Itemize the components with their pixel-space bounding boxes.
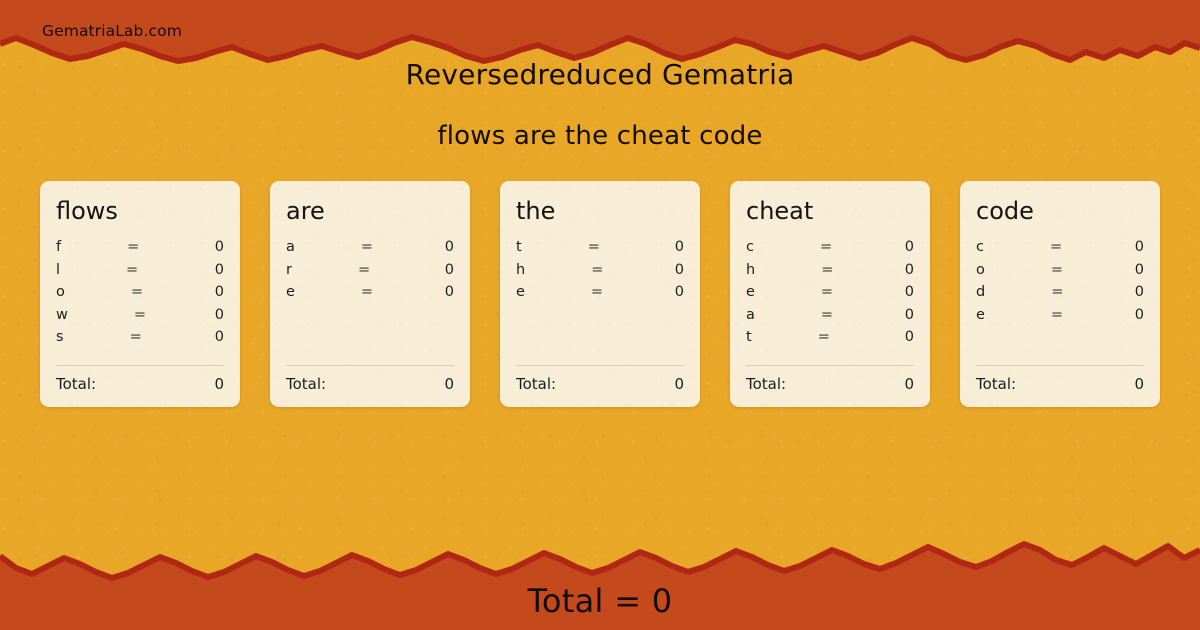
letter-glyph: h: [746, 262, 755, 278]
letter-row: h=0: [516, 262, 684, 285]
letter-value: 0: [905, 284, 914, 300]
letter-glyph: a: [286, 239, 295, 255]
page-title: Reversedreduced Gematria: [0, 58, 1200, 92]
card-divider: [976, 365, 1144, 366]
letter-row: e=0: [286, 284, 454, 307]
card-divider: [746, 365, 914, 366]
letter-value: 0: [1135, 239, 1144, 255]
letter-row: a=0: [286, 239, 454, 262]
letter-glyph: h: [516, 262, 525, 278]
letter-glyph: f: [56, 239, 61, 255]
letter-rows: t=0h=0e=0: [516, 239, 684, 365]
equals-sign: =: [361, 239, 373, 255]
card-word-title: are: [286, 197, 454, 225]
equals-sign: =: [358, 262, 370, 278]
card-total-label: Total:: [746, 375, 786, 393]
letter-value: 0: [445, 284, 454, 300]
letter-row: d=0: [976, 284, 1144, 307]
card-word-title: code: [976, 197, 1144, 225]
letter-glyph: l: [56, 262, 60, 278]
letter-row: o=0: [56, 284, 224, 307]
equals-sign: =: [820, 239, 832, 255]
letter-row: s=0: [56, 329, 224, 352]
letter-value: 0: [215, 284, 224, 300]
word-card: area=0r=0e=0Total:0: [270, 181, 470, 407]
card-total-row: Total:0: [56, 375, 224, 393]
letter-row: e=0: [976, 307, 1144, 330]
letter-value: 0: [215, 239, 224, 255]
card-total-row: Total:0: [286, 375, 454, 393]
letter-value: 0: [675, 284, 684, 300]
letter-value: 0: [675, 262, 684, 278]
letter-row: r=0: [286, 262, 454, 285]
letter-glyph: s: [56, 329, 64, 345]
equals-sign: =: [591, 284, 603, 300]
letter-glyph: o: [976, 262, 985, 278]
card-total-value: 0: [214, 375, 224, 393]
equals-sign: =: [821, 307, 833, 323]
card-word-title: cheat: [746, 197, 914, 225]
equals-sign: =: [588, 239, 600, 255]
word-cards-container: flowsf=0l=0o=0w=0s=0Total:0area=0r=0e=0T…: [40, 181, 1160, 407]
equals-sign: =: [130, 329, 142, 345]
letter-rows: c=0o=0d=0e=0: [976, 239, 1144, 365]
letter-value: 0: [445, 239, 454, 255]
equals-sign: =: [134, 307, 146, 323]
page-subtitle: flows are the cheat code: [0, 120, 1200, 152]
letter-glyph: e: [286, 284, 295, 300]
equals-sign: =: [126, 262, 138, 278]
letter-row: e=0: [746, 284, 914, 307]
letter-row: a=0: [746, 307, 914, 330]
letter-row: w=0: [56, 307, 224, 330]
site-watermark: GematriaLab.com: [42, 22, 182, 40]
letter-row: e=0: [516, 284, 684, 307]
letter-row: c=0: [976, 239, 1144, 262]
card-total-label: Total:: [976, 375, 1016, 393]
letter-row: o=0: [976, 262, 1144, 285]
equals-sign: =: [818, 329, 830, 345]
letter-value: 0: [905, 239, 914, 255]
card-word-title: flows: [56, 197, 224, 225]
equals-sign: =: [361, 284, 373, 300]
letter-row: c=0: [746, 239, 914, 262]
equals-sign: =: [1050, 239, 1062, 255]
equals-sign: =: [821, 262, 833, 278]
grand-total-label: Total = 0: [0, 582, 1200, 620]
letter-value: 0: [905, 307, 914, 323]
equals-sign: =: [591, 262, 603, 278]
card-total-value: 0: [674, 375, 684, 393]
letter-glyph: c: [746, 239, 754, 255]
letter-value: 0: [1135, 284, 1144, 300]
equals-sign: =: [821, 284, 833, 300]
letter-value: 0: [905, 262, 914, 278]
letter-value: 0: [1135, 307, 1144, 323]
equals-sign: =: [1051, 262, 1063, 278]
letter-rows: f=0l=0o=0w=0s=0: [56, 239, 224, 365]
letter-row: l=0: [56, 262, 224, 285]
equals-sign: =: [1051, 284, 1063, 300]
equals-sign: =: [1051, 307, 1063, 323]
card-total-label: Total:: [286, 375, 326, 393]
letter-value: 0: [675, 239, 684, 255]
letter-row: t=0: [746, 329, 914, 352]
letter-glyph: e: [746, 284, 755, 300]
card-divider: [56, 365, 224, 366]
card-total-value: 0: [904, 375, 914, 393]
letter-glyph: r: [286, 262, 292, 278]
letter-glyph: o: [56, 284, 65, 300]
letter-glyph: e: [516, 284, 525, 300]
card-total-row: Total:0: [976, 375, 1144, 393]
word-card: flowsf=0l=0o=0w=0s=0Total:0: [40, 181, 240, 407]
card-total-label: Total:: [56, 375, 96, 393]
equals-sign: =: [131, 284, 143, 300]
letter-glyph: e: [976, 307, 985, 323]
letter-glyph: a: [746, 307, 755, 323]
letter-row: t=0: [516, 239, 684, 262]
card-total-row: Total:0: [746, 375, 914, 393]
letter-glyph: w: [56, 307, 68, 323]
header-block: Reversedreduced Gematria flows are the c…: [0, 58, 1200, 152]
letter-glyph: t: [516, 239, 522, 255]
letter-glyph: t: [746, 329, 752, 345]
letter-rows: a=0r=0e=0: [286, 239, 454, 365]
letter-value: 0: [215, 262, 224, 278]
equals-sign: =: [127, 239, 139, 255]
card-word-title: the: [516, 197, 684, 225]
card-total-row: Total:0: [516, 375, 684, 393]
card-total-label: Total:: [516, 375, 556, 393]
letter-value: 0: [445, 262, 454, 278]
word-card: codec=0o=0d=0e=0Total:0: [960, 181, 1160, 407]
letter-rows: c=0h=0e=0a=0t=0: [746, 239, 914, 365]
card-divider: [516, 365, 684, 366]
word-card: cheatc=0h=0e=0a=0t=0Total:0: [730, 181, 930, 407]
card-divider: [286, 365, 454, 366]
letter-glyph: d: [976, 284, 985, 300]
card-total-value: 0: [444, 375, 454, 393]
letter-row: h=0: [746, 262, 914, 285]
letter-value: 0: [905, 329, 914, 345]
word-card: thet=0h=0e=0Total:0: [500, 181, 700, 407]
letter-glyph: c: [976, 239, 984, 255]
letter-row: f=0: [56, 239, 224, 262]
letter-value: 0: [215, 329, 224, 345]
letter-value: 0: [1135, 262, 1144, 278]
card-total-value: 0: [1134, 375, 1144, 393]
letter-value: 0: [215, 307, 224, 323]
